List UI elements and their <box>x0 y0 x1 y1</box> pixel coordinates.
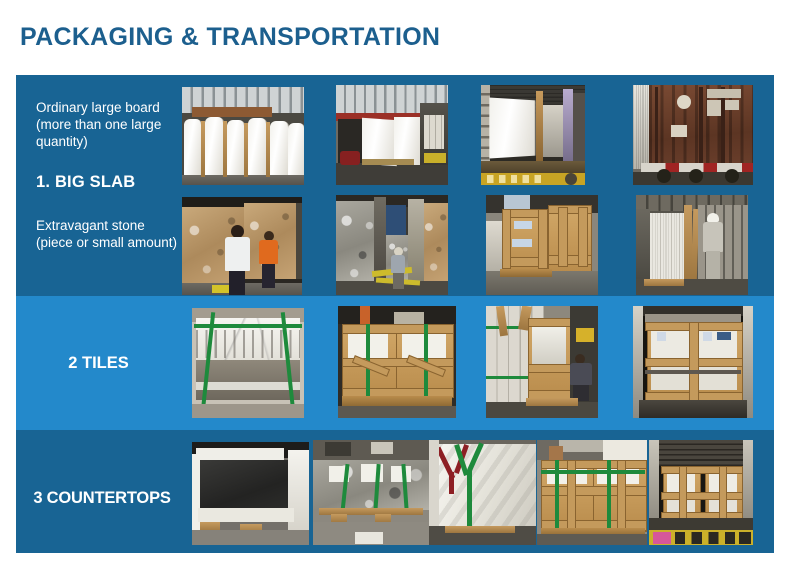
label-tiles-heading: 2 TILES <box>16 354 181 373</box>
label-column: Ordinary large board (more than one larg… <box>16 75 181 553</box>
photo-countertop-crates-strapped <box>537 440 647 545</box>
page-title: PACKAGING & TRANSPORTATION <box>20 23 440 52</box>
photo-wrapped-slab-bundles-warehouse <box>182 87 304 185</box>
photo-wooden-crates-slabs <box>486 195 598 295</box>
photo-tile-crate-being-handled <box>486 306 598 418</box>
photo-slabs-loading-truck <box>336 85 448 185</box>
photo-tile-crates-in-container <box>633 306 753 418</box>
label-extravagant-stone: Extravagant stone (piece or small amount… <box>36 217 178 251</box>
packaging-panel: Ordinary large board (more than one larg… <box>16 75 774 553</box>
photo-strapped-tile-pallet <box>192 308 304 418</box>
photo-worker-in-slab-aisle <box>336 195 448 295</box>
photo-tile-crates-on-pallets <box>338 306 456 418</box>
label-countertops-heading: 3 COUNTERTOPS <box>16 489 188 508</box>
photo-slabs-inside-container <box>481 85 585 185</box>
photo-grey-countertops-strapped <box>313 440 430 545</box>
photo-worker-bracing-container-load <box>636 195 748 295</box>
slide-root: PACKAGING & TRANSPORTATION Ordinary larg… <box>0 0 790 584</box>
photo-countertop-crates-in-container <box>649 440 753 545</box>
label-ordinary-large-board: Ordinary large board (more than one larg… <box>36 99 178 150</box>
label-big-slab-heading: 1. BIG SLAB <box>36 173 135 192</box>
photo-workers-inspecting-granite-slab <box>182 197 302 295</box>
photo-black-countertop-bundle <box>192 442 309 545</box>
photo-wrapped-bundle-with-lifter <box>429 440 536 545</box>
photo-loaded-container-rear <box>633 85 753 185</box>
